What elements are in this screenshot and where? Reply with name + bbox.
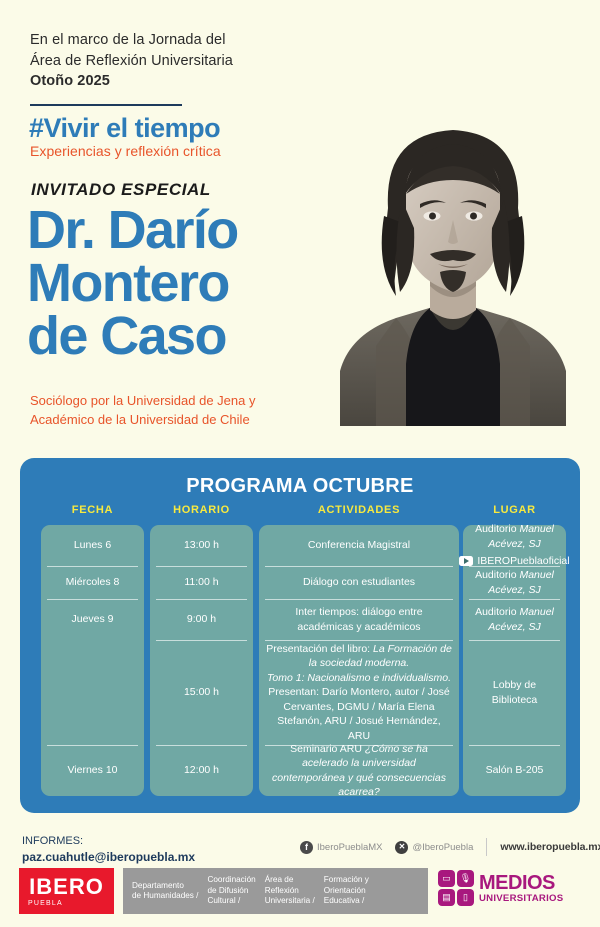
poster: En el marco de la Jornada del Área de Re…	[0, 0, 600, 927]
guest-name-line-1: Dr. Darío	[27, 204, 327, 257]
department-credit: Coordinación de Difusión Cultural /	[207, 875, 255, 907]
credentials-line-1: Sociólogo por la Universidad de Jena y	[30, 392, 320, 411]
kicker-line-3: Otoño 2025	[30, 73, 110, 89]
poster-header: En el marco de la Jornada del Área de Re…	[0, 0, 600, 455]
table-cell-horario: 15:00 h	[150, 640, 253, 745]
lugar-text: Salón B-205	[486, 763, 544, 777]
column-header-actividades: ACTIVIDADES	[259, 504, 459, 516]
youtube-icon	[459, 556, 473, 566]
credentials-line-2: Académico de la Universidad de Chile	[30, 411, 320, 430]
table-cell-fecha: Jueves 9	[41, 599, 144, 640]
department-credit: Formación y Orientación Educativa /	[324, 875, 369, 907]
department-credit: Departamento de Humanidades /	[132, 881, 198, 902]
program-panel: PROGRAMA OCTUBRE FECHA HORARIO ACTIVIDAD…	[20, 458, 580, 813]
contact-email[interactable]: paz.cuahutle@iberopuebla.mx	[22, 849, 195, 865]
table-cell-horario: 11:00 h	[150, 566, 253, 599]
table-cell-lugar: Auditorio Manuel Acévez, SJ	[463, 566, 566, 599]
lugar-text: Lobby de Biblioteca	[470, 678, 559, 707]
column-actividades: Conferencia Magistral Diálogo con estudi…	[259, 525, 459, 796]
program-title: PROGRAMA OCTUBRE	[20, 475, 580, 498]
actividad-book-volume: Tomo 1: Nacionalismo e individualismo.	[267, 672, 451, 684]
facebook-link[interactable]: f IberoPueblaMX	[300, 841, 382, 854]
medios-line-2: UNIVERSITARIOS	[479, 894, 563, 904]
screen-icon: ▭	[438, 870, 455, 887]
ibero-logo-city: PUEBLA	[28, 900, 63, 907]
table-cell-lugar: Salón B-205	[463, 745, 566, 796]
document-icon: ▤	[438, 889, 455, 906]
campaign-subtitle: Experiencias y reflexión crítica	[30, 143, 221, 159]
column-horario: 13:00 h 11:00 h 9:00 h 15:00 h 12:00 h	[150, 525, 253, 796]
guest-portrait-photo	[318, 96, 588, 426]
column-header-horario: HORARIO	[150, 504, 253, 516]
table-cell-horario: 9:00 h	[150, 599, 253, 640]
guest-name: Dr. Darío Montero de Caso	[27, 204, 327, 363]
informes-label: INFORMES:	[22, 834, 195, 849]
actividad-presenters: Presentan: Darío Montero, autor / José C…	[268, 686, 450, 741]
department-credit: Área de Reflexión Universitaria /	[265, 875, 315, 907]
header-divider	[30, 104, 182, 106]
campaign-hashtag: #Vivir el tiempo	[29, 113, 220, 144]
facebook-handle: IberoPueblaMX	[317, 842, 382, 853]
medios-universitarios-logo: ▭ 🎙 ▤ ▯ MEDIOS UNIVERSITARIOS	[438, 870, 563, 906]
table-cell-actividad: Conferencia Magistral	[259, 525, 459, 566]
column-header-fecha: FECHA	[41, 504, 144, 516]
table-cell-lugar: Auditorio Manuel Acévez, SJ IBEROPueblao…	[463, 525, 566, 566]
contact-info: INFORMES: paz.cuahutle@iberopuebla.mx	[22, 834, 195, 865]
website-url[interactable]: www.iberopuebla.mx	[500, 841, 600, 853]
guest-credentials: Sociólogo por la Universidad de Jena y A…	[30, 392, 320, 430]
table-cell-fecha: Viernes 10	[41, 745, 144, 796]
table-cell-horario: 12:00 h	[150, 745, 253, 796]
table-cell-horario: 13:00 h	[150, 525, 253, 566]
ibero-logo: IBERO PUEBLA	[19, 868, 114, 914]
medios-line-1: MEDIOS	[479, 873, 563, 893]
table-cell-actividad: Inter tiempos: diálogo entre académicas …	[259, 599, 459, 640]
table-cell-lugar: Auditorio Manuel Acévez, SJ	[463, 599, 566, 640]
table-cell-fecha: Lunes 6	[41, 525, 144, 566]
kicker-line-1: En el marco de la Jornada del	[30, 30, 320, 51]
department-credits: Departamento de Humanidades / Coordinaci…	[123, 868, 428, 914]
x-twitter-link[interactable]: ✕ @IberoPuebla	[395, 841, 473, 854]
lugar-text: Auditorio	[475, 606, 519, 618]
footer-separator	[486, 838, 487, 856]
actividad-prefix: Seminario ARU	[290, 743, 365, 755]
ibero-logo-name: IBERO	[29, 876, 104, 898]
microphone-icon: 🎙	[457, 870, 474, 887]
facebook-icon: f	[300, 841, 313, 854]
table-cell-lugar: Lobby de Biblioteca	[463, 640, 566, 745]
table-cell-actividad: Seminario ARU ¿Cómo se ha acelerado la u…	[259, 745, 459, 796]
actividad-prefix: Presentación del libro:	[266, 643, 373, 655]
medios-wordmark: MEDIOS UNIVERSITARIOS	[479, 873, 563, 904]
program-column-headers: FECHA HORARIO ACTIVIDADES LUGAR	[20, 504, 580, 520]
medios-icon-grid: ▭ 🎙 ▤ ▯	[438, 870, 474, 906]
special-guest-label: INVITADO ESPECIAL	[31, 180, 211, 200]
lugar-text: Auditorio	[475, 569, 519, 581]
guest-name-line-3: de Caso	[27, 310, 327, 363]
social-links: f IberoPueblaMX ✕ @IberoPuebla www.ibero…	[300, 838, 600, 856]
mobile-icon: ▯	[457, 889, 474, 906]
x-twitter-icon: ✕	[395, 841, 408, 854]
table-cell-actividad: Presentación del libro: La Formación de …	[259, 640, 459, 745]
event-kicker: En el marco de la Jornada del Área de Re…	[30, 30, 320, 92]
lugar-text: Auditorio	[475, 523, 519, 535]
institutional-logos: IBERO PUEBLA Departamento de Humanidades…	[19, 868, 581, 914]
column-fecha: Lunes 6 Miércoles 8 Jueves 9 Viernes 10	[41, 525, 144, 796]
kicker-line-2: Área de Reflexión Universitaria	[30, 51, 320, 72]
column-lugar: Auditorio Manuel Acévez, SJ IBEROPueblao…	[463, 525, 566, 796]
table-cell-actividad: Diálogo con estudiantes	[259, 566, 459, 599]
table-cell-fecha: Miércoles 8	[41, 566, 144, 599]
x-twitter-handle: @IberoPuebla	[412, 842, 473, 853]
guest-name-line-2: Montero	[27, 257, 327, 310]
column-header-lugar: LUGAR	[463, 504, 566, 516]
